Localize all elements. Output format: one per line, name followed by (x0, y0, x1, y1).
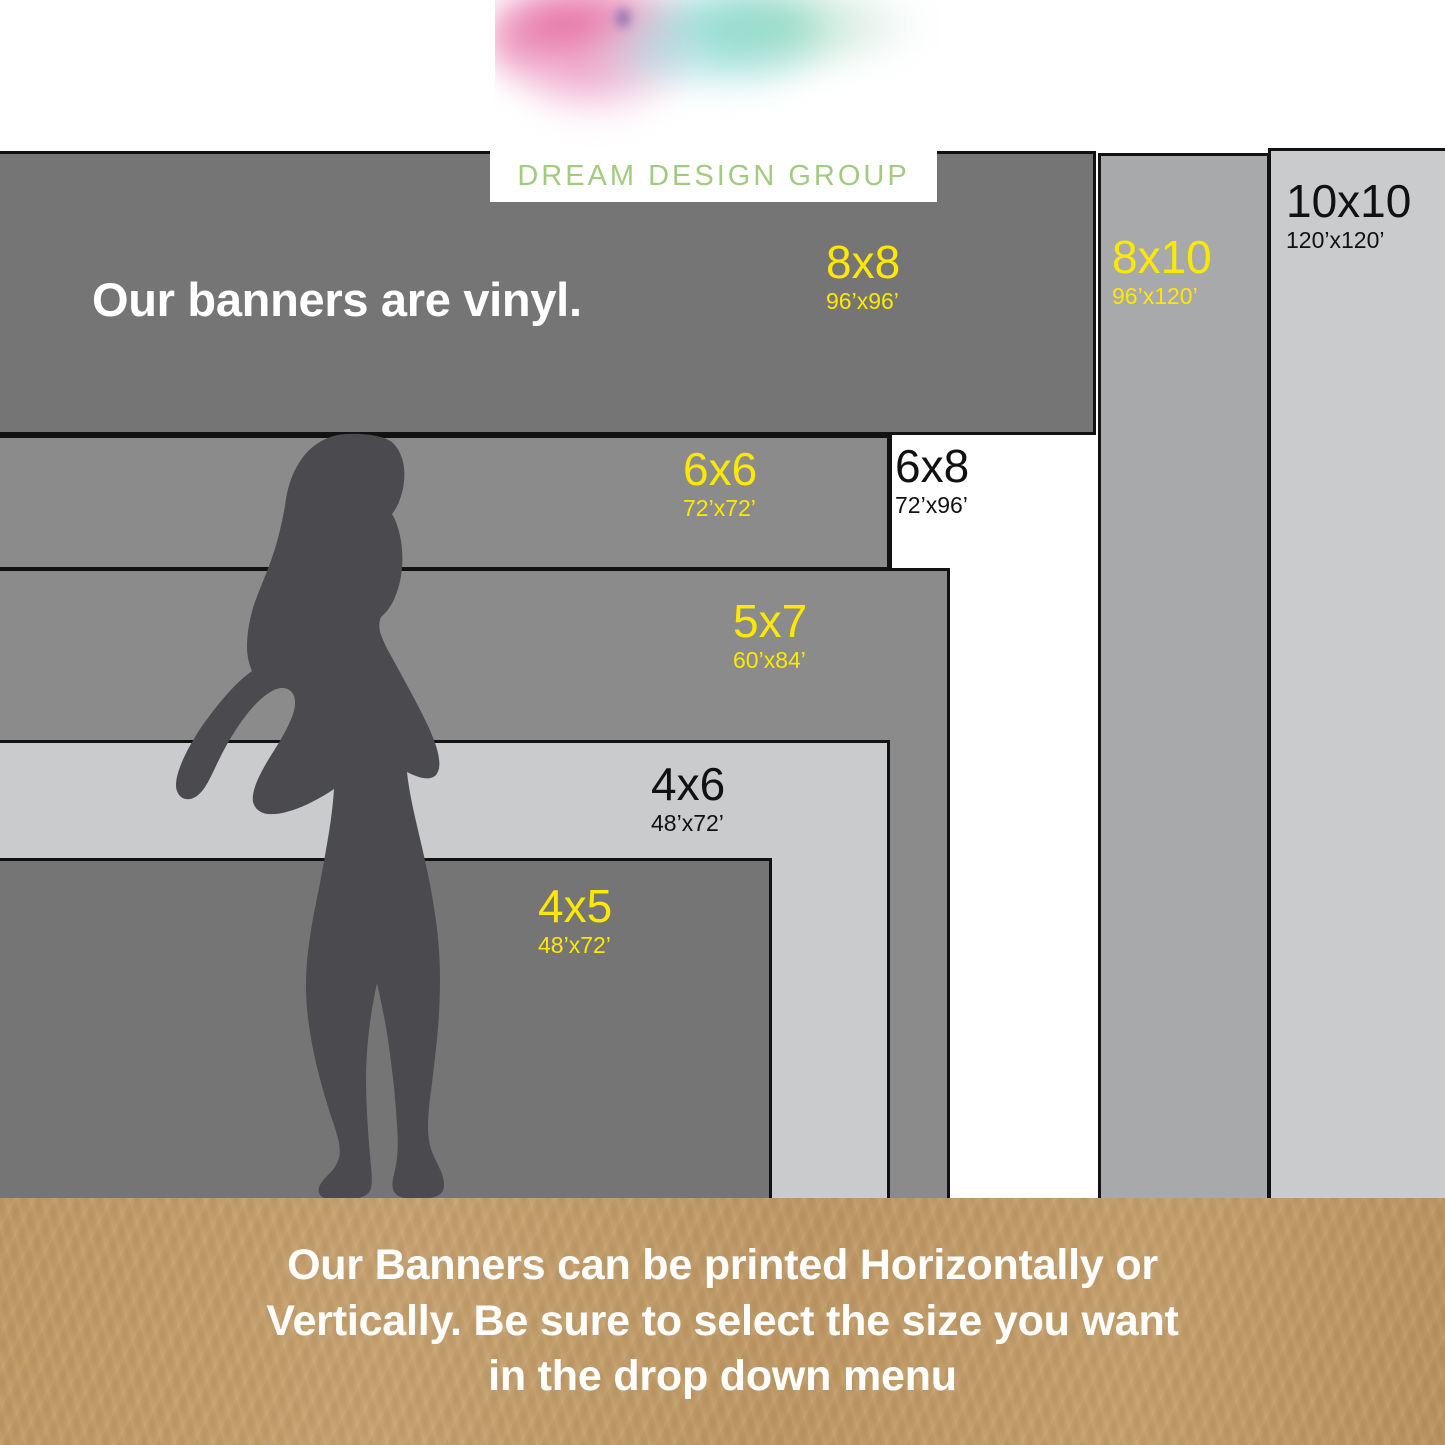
label-8x10-dims: 96’x120’ (1112, 285, 1212, 308)
footer-line-3: in the drop down menu (78, 1349, 1368, 1405)
label-4x5-size: 4x5 (538, 883, 612, 930)
label-8x10: 8x10 96’x120’ (1112, 234, 1212, 308)
label-4x5-dims: 48’x72’ (538, 934, 612, 957)
label-10x10: 10x10 120’x120’ (1286, 178, 1411, 252)
banner-block-8x10[interactable] (1098, 153, 1270, 1201)
label-8x8: 8x8 96’x96’ (826, 239, 900, 313)
banner-block-10x10[interactable] (1268, 148, 1445, 1201)
logo-watercolor-icon (495, 0, 940, 150)
label-5x7-dims: 60’x84’ (733, 649, 807, 672)
label-8x10-size: 8x10 (1112, 234, 1212, 281)
label-5x7-size: 5x7 (733, 598, 807, 645)
footer-text: Our Banners can be printed Horizontally … (78, 1238, 1368, 1406)
label-6x8-size: 6x8 (895, 443, 969, 490)
footer-line-1: Our Banners can be printed Horizontally … (78, 1238, 1368, 1294)
footer-line-2: Vertically. Be sure to select the size y… (78, 1294, 1368, 1350)
label-4x5: 4x5 48’x72’ (538, 883, 612, 957)
banner-size-chart: 8x8 96’x96’ 8x10 96’x120’ 10x10 120’x120… (0, 0, 1445, 1445)
brand-name: DREAM DESIGN GROUP (517, 160, 909, 193)
label-8x8-dims: 96’x96’ (826, 290, 900, 313)
label-6x8: 6x8 72’x96’ (895, 443, 969, 517)
label-6x6: 6x6 72’x72’ (683, 446, 757, 520)
label-6x8-dims: 72’x96’ (895, 494, 969, 517)
label-4x6-size: 4x6 (651, 761, 725, 808)
banner-block-4x5[interactable] (0, 858, 772, 1204)
headline-text: Our banners are vinyl. (92, 272, 582, 327)
label-6x6-size: 6x6 (683, 446, 757, 493)
wash-teal2-icon (590, 20, 710, 90)
label-4x6-dims: 48’x72’ (651, 812, 725, 835)
label-10x10-dims: 120’x120’ (1286, 229, 1411, 252)
label-8x8-size: 8x8 (826, 239, 900, 286)
label-4x6: 4x6 48’x72’ (651, 761, 725, 835)
label-10x10-size: 10x10 (1286, 178, 1411, 225)
label-5x7: 5x7 60’x84’ (733, 598, 807, 672)
label-6x6-dims: 72’x72’ (683, 497, 757, 520)
wash-dot-icon (612, 5, 634, 31)
footer-banner: Our Banners can be printed Horizontally … (0, 1198, 1445, 1445)
logo-plate: DREAM DESIGN GROUP (490, 150, 937, 202)
